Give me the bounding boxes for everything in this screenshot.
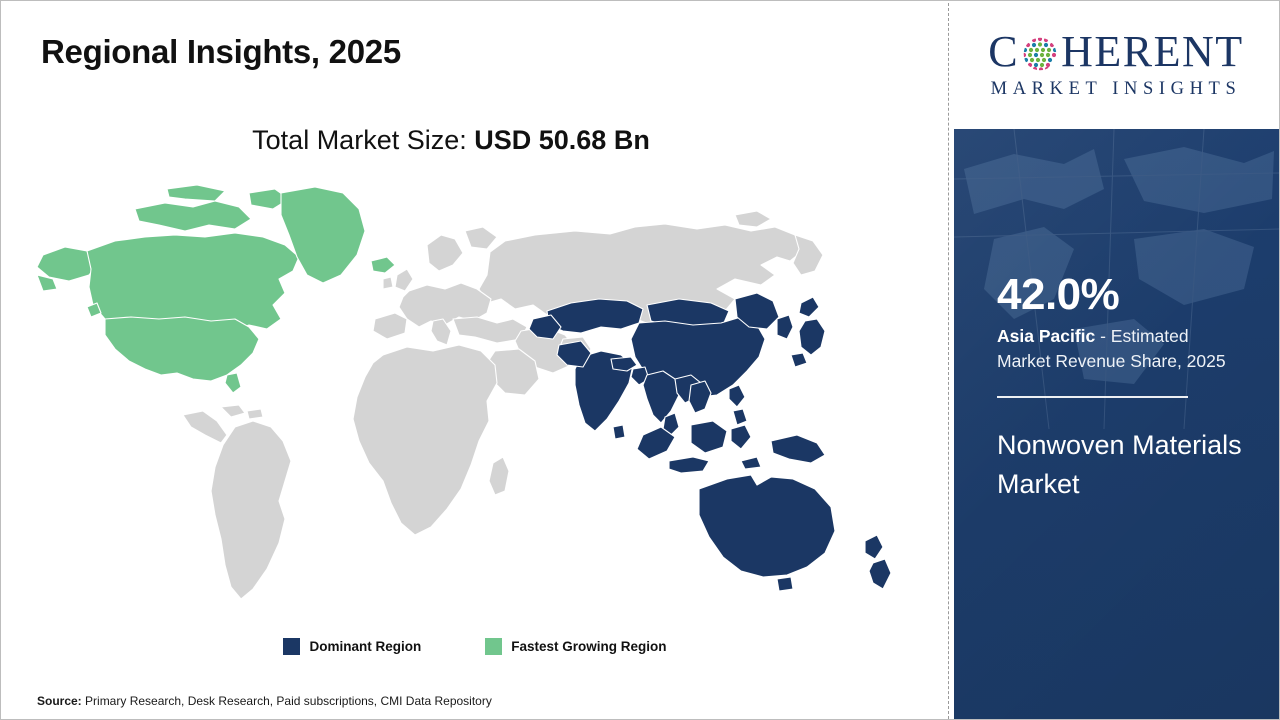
total-market-size: Total Market Size: USD 50.68 Bn	[1, 125, 901, 156]
panel-divider	[948, 3, 950, 719]
slide-root: Regional Insights, 2025 Total Market Siz…	[0, 0, 1280, 720]
stat-region-name: Asia Pacific	[997, 326, 1095, 346]
total-market-size-label: Total Market Size:	[252, 125, 467, 155]
page-title: Regional Insights, 2025	[41, 33, 401, 71]
stat-panel: 42.0% Asia Pacific - Estimated Market Re…	[954, 129, 1279, 719]
stat-divider	[997, 396, 1188, 398]
left-content-panel: Regional Insights, 2025 Total Market Siz…	[1, 1, 949, 719]
source-text: Primary Research, Desk Research, Paid su…	[82, 694, 492, 708]
logo-letter-c: C	[988, 30, 1019, 74]
world-map-container	[35, 179, 919, 625]
market-name: Nonwoven Materials Market	[997, 426, 1242, 504]
globe-dots-icon	[1020, 34, 1060, 74]
brand-logo: C	[956, 9, 1276, 121]
logo-wordmark: C	[988, 30, 1243, 74]
logo-letters-herent: HERENT	[1061, 30, 1244, 74]
source-line: Source: Primary Research, Desk Research,…	[37, 694, 492, 708]
square-swatch-icon	[283, 638, 300, 655]
stat-percent: 42.0%	[997, 273, 1242, 318]
source-label: Source:	[37, 694, 82, 708]
square-swatch-icon	[485, 638, 502, 655]
stat-description: Asia Pacific - Estimated Market Revenue …	[997, 324, 1242, 374]
world-map	[35, 179, 919, 625]
legend-item-fastest-growing: Fastest Growing Region	[485, 638, 666, 655]
stat-panel-content: 42.0% Asia Pacific - Estimated Market Re…	[997, 273, 1242, 504]
total-market-size-value: USD 50.68 Bn	[474, 125, 650, 155]
map-legend: Dominant Region Fastest Growing Region	[1, 638, 949, 655]
legend-label-dominant: Dominant Region	[309, 639, 421, 654]
legend-label-fastest-growing: Fastest Growing Region	[511, 639, 666, 654]
legend-item-dominant: Dominant Region	[283, 638, 421, 655]
map-region-north-america	[37, 185, 395, 393]
logo-tagline: MARKET INSIGHTS	[991, 79, 1242, 100]
